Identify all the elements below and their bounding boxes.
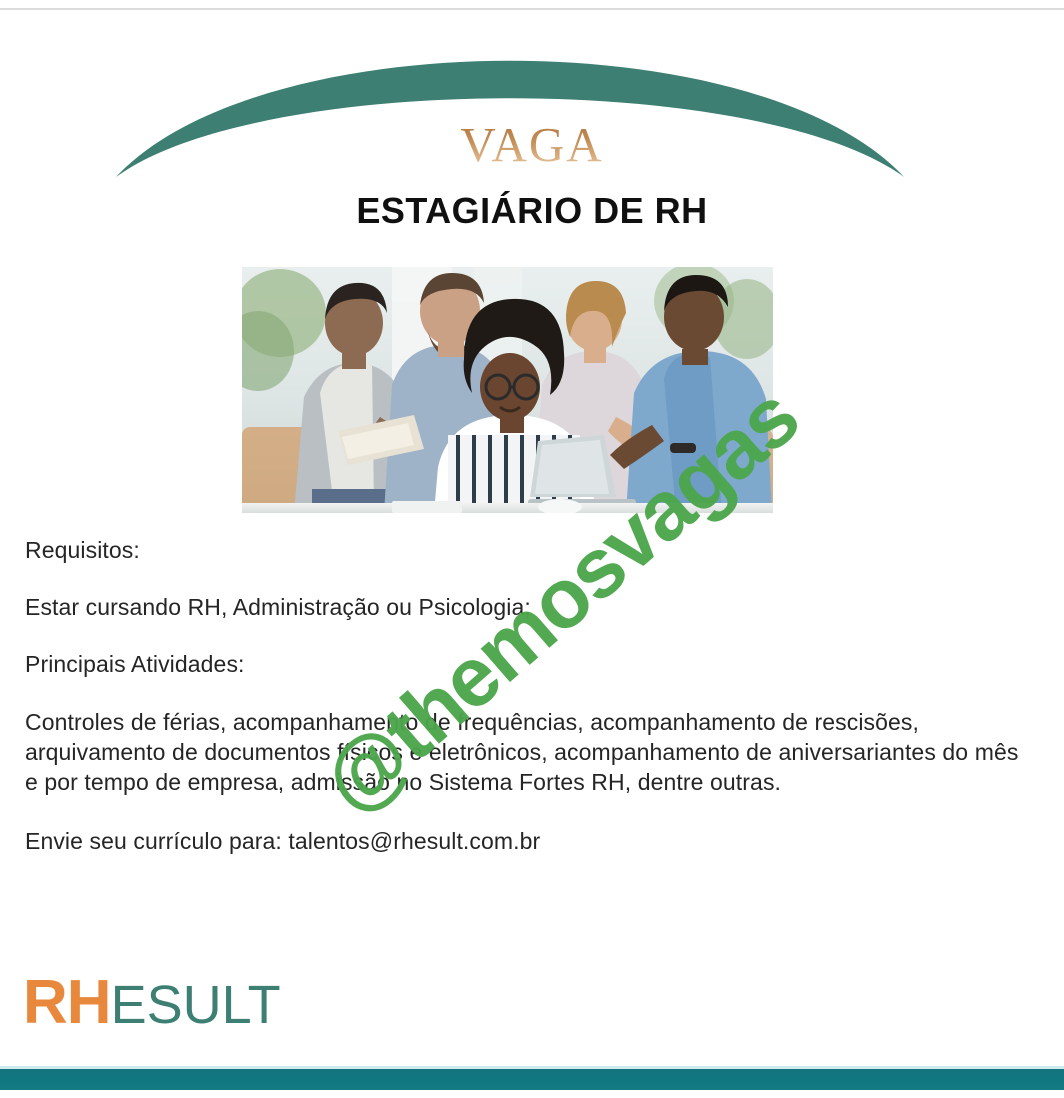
apply-instructions[interactable]: Envie seu currículo para: talentos@rhesu… bbox=[25, 827, 1025, 856]
rhesult-logo: RH ESULT bbox=[23, 972, 281, 1042]
poster-header: VAGA ESTAGIÁRIO DE RH bbox=[0, 14, 1064, 246]
bottom-accent-bar bbox=[0, 1069, 1064, 1090]
activities-heading: Principais Atividades: bbox=[25, 650, 1025, 679]
team-photo bbox=[242, 267, 773, 513]
page-title: ESTAGIÁRIO DE RH bbox=[0, 192, 1064, 230]
top-divider bbox=[0, 8, 1064, 10]
requirements-heading: Requisitos: bbox=[25, 536, 1025, 565]
job-posting-poster: VAGA ESTAGIÁRIO DE RH bbox=[0, 0, 1064, 1098]
activities-text: Controles de férias, acompanhamento de f… bbox=[25, 707, 1025, 797]
logo-mark-rh: RH bbox=[23, 972, 111, 1034]
poster-body: Requisitos: Estar cursando RH, Administr… bbox=[25, 536, 1025, 856]
logo-wordmark-esult: ESULT bbox=[111, 978, 281, 1032]
poster-kicker: VAGA bbox=[0, 120, 1064, 169]
requirements-text: Estar cursando RH, Administração ou Psic… bbox=[25, 593, 1025, 622]
